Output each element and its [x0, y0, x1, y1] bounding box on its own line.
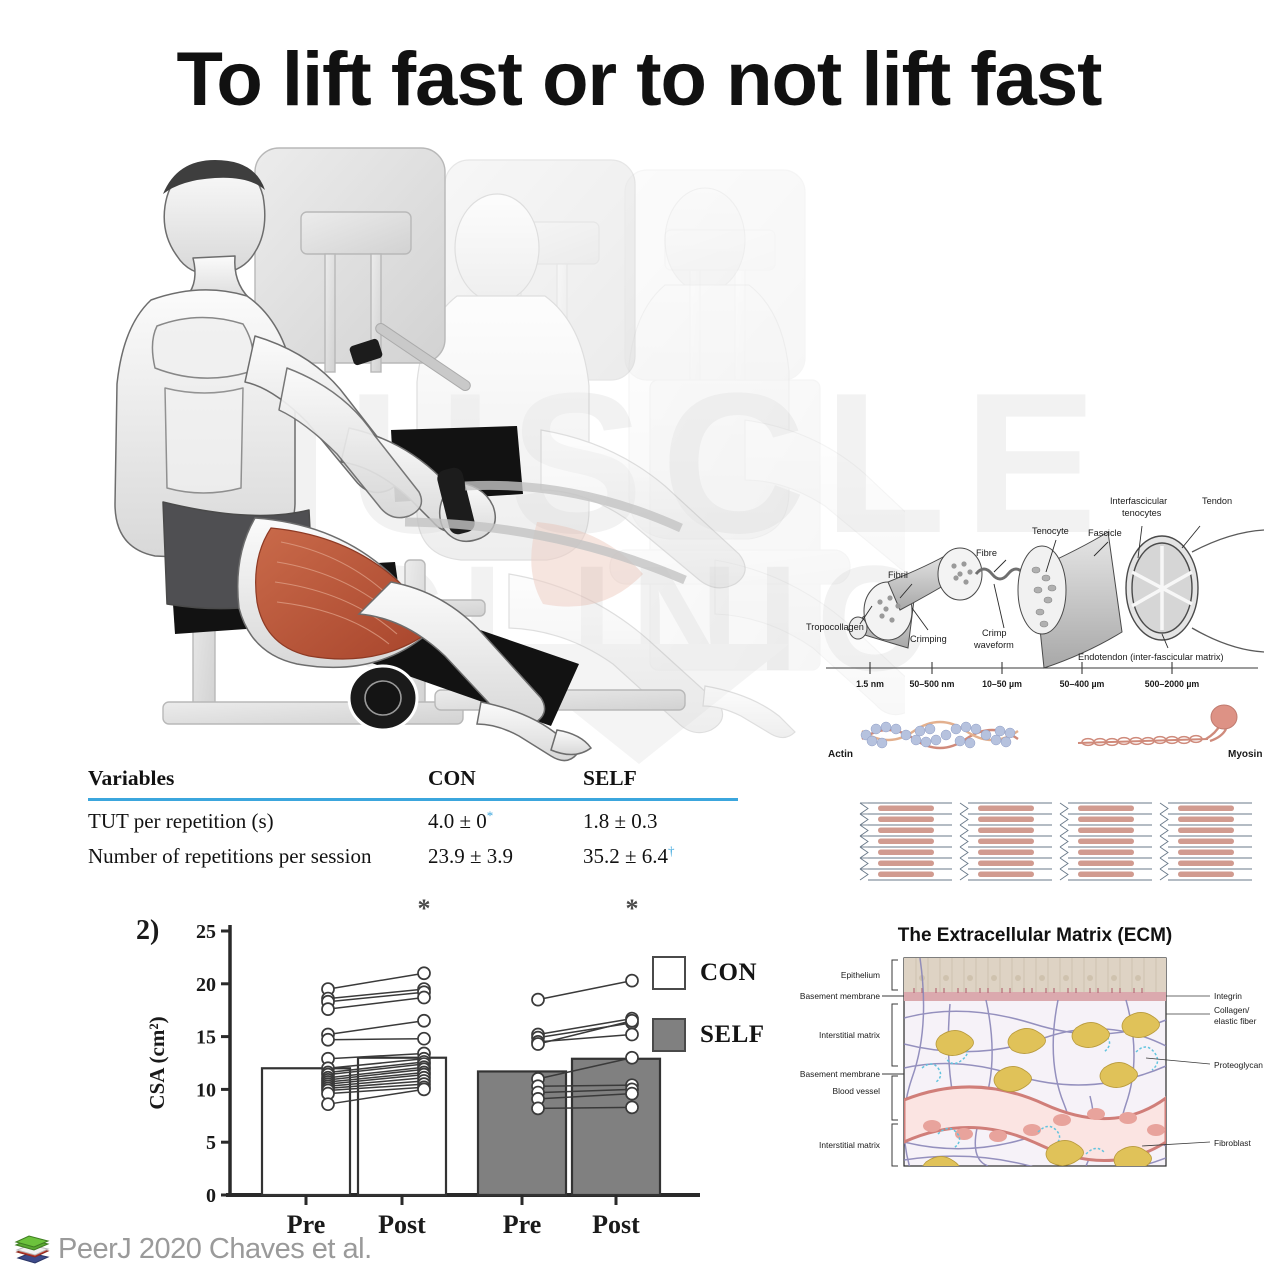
ecm-diagram: Epithelium Basement membrane Interstitia… — [790, 918, 1278, 1183]
tendon-scale-3: 50–400 µm — [1060, 679, 1105, 689]
label-myosin: Myosin — [1228, 749, 1262, 760]
ecm-label-basement-membrane-top: Basement membrane — [800, 991, 880, 1001]
tendon-label-crimp-waveform-2: waveform — [973, 640, 1014, 650]
tendon-label-interfascicular-2: tenocytes — [1122, 508, 1162, 518]
y-axis-tick-label: 25 — [196, 921, 216, 943]
x-axis-tick-label: Post — [592, 1210, 640, 1239]
tendon-scale-1: 50–500 nm — [910, 679, 955, 689]
chart-data-point — [322, 1098, 334, 1110]
table-cell-self: 35.2 ± 6.4† — [583, 836, 738, 871]
chart-data-point — [322, 1003, 334, 1015]
myosin-filament — [1078, 705, 1237, 745]
y-axis-tick-label: 20 — [196, 974, 216, 996]
table-cell-con: 23.9 ± 3.9 — [428, 836, 583, 871]
credit-line: PeerJ 2020 Chaves et al. — [14, 1233, 372, 1266]
tendon-label-fibre: Fibre — [976, 548, 997, 558]
legend-item-con: CON — [652, 956, 765, 990]
ecm-label-blood-vessel: Blood vessel — [833, 1086, 881, 1096]
chart-data-point — [418, 967, 430, 979]
chart-data-point — [418, 1083, 430, 1095]
tendon-label-crimping: Crimping — [910, 634, 947, 644]
table-header-self: SELF — [583, 766, 738, 800]
ecm-label-integrin: Integrin — [1214, 991, 1242, 1001]
chart-data-point — [626, 1015, 638, 1027]
tendon-label-fibril: Fibril — [888, 570, 908, 580]
y-axis-title: CSA (cm²) — [145, 1016, 169, 1109]
ecm-label-proteoglycan: Proteoglycan — [1214, 1060, 1263, 1070]
ecm-label-basement-membrane-bottom: Basement membrane — [800, 1069, 880, 1079]
page-title: To lift fast or to not lift fast — [0, 36, 1278, 123]
books-icon — [14, 1234, 52, 1266]
chart-bar — [478, 1071, 566, 1195]
chart-data-point — [532, 994, 544, 1006]
x-axis-tick-label: Pre — [503, 1210, 542, 1239]
table-cell-variable: Number of repetitions per session — [88, 836, 428, 871]
table-header-variables: Variables — [88, 766, 428, 800]
tendon-label-tropocollagen: Tropocollagen — [806, 622, 864, 632]
chart-panel-label: 2) — [136, 915, 159, 946]
ecm-label-fibroblast: Fibroblast — [1214, 1138, 1251, 1148]
actin-myosin-figure: Actin Myosin — [810, 695, 1270, 775]
results-table: Variables CON SELF TUT per repetition (s… — [88, 766, 738, 871]
tendon-scale-2: 10–50 µm — [982, 679, 1022, 689]
chart-data-point — [626, 1088, 638, 1100]
chart-data-point — [626, 1028, 638, 1040]
table-row: TUT per repetition (s)4.0 ± 0*1.8 ± 0.3 — [88, 800, 738, 837]
y-axis-tick-label: 5 — [206, 1132, 216, 1154]
legend-item-self: SELF — [652, 1018, 765, 1052]
actin-filament — [861, 722, 1018, 748]
chart-legend: CON SELF — [652, 956, 765, 1080]
chart-data-point — [626, 1052, 638, 1064]
legend-label-con: CON — [700, 959, 757, 987]
chart-data-point — [626, 1101, 638, 1113]
tendon-scale-0: 1.5 nm — [856, 679, 884, 689]
ecm-label-interstitial-matrix-top: Interstitial matrix — [819, 1030, 881, 1040]
tendon-label-endotendon: Endotendon (inter-fascicular matrix) — [1078, 652, 1224, 662]
table-header-con: CON — [428, 766, 583, 800]
tendon-label-interfascicular-1: Interfascicular — [1110, 496, 1167, 506]
ecm-label-collagen-2: elastic fiber — [1214, 1016, 1257, 1026]
chart-data-point — [322, 1034, 334, 1046]
significance-marker: * — [626, 895, 639, 923]
exercise-illustration — [105, 130, 905, 770]
chart-data-point — [418, 992, 430, 1004]
y-axis-tick-label: 0 — [206, 1185, 216, 1207]
chart-data-point — [532, 1102, 544, 1114]
table-row: Number of repetitions per session23.9 ± … — [88, 836, 738, 871]
legend-swatch-con — [652, 956, 686, 990]
chart-data-point — [532, 1038, 544, 1050]
y-axis-tick-label: 10 — [196, 1079, 216, 1101]
tendon-hierarchy-figure: Tropocollagen Fibril Crimping Fibre Crim… — [800, 478, 1270, 693]
x-axis-tick-label: Post — [378, 1210, 426, 1239]
legend-swatch-self — [652, 1018, 686, 1052]
y-axis-tick-label: 15 — [196, 1027, 216, 1049]
ecm-label-epithelium: Epithelium — [841, 970, 880, 980]
significance-marker: * — [418, 895, 431, 923]
legend-label-self: SELF — [700, 1021, 765, 1049]
chart-data-point — [418, 1015, 430, 1027]
table-cell-con: 4.0 ± 0* — [428, 800, 583, 837]
table-cell-self: 1.8 ± 0.3 — [583, 800, 738, 837]
chart-data-point — [418, 1033, 430, 1045]
tendon-label-fascicle: Fascicle — [1088, 528, 1122, 538]
label-actin: Actin — [828, 749, 853, 760]
tendon-label-crimp-waveform-1: Crimp — [982, 628, 1007, 638]
chart-bar — [572, 1059, 660, 1195]
ecm-label-collagen-1: Collagen/ — [1214, 1005, 1250, 1015]
tendon-label-tenocyte: Tenocyte — [1032, 526, 1069, 536]
tendon-label-tendon: Tendon — [1202, 496, 1232, 506]
table-cell-variable: TUT per repetition (s) — [88, 800, 428, 837]
ecm-title: The Extracellular Matrix (ECM) — [790, 925, 1278, 947]
tendon-scale-4: 500–2000 µm — [1145, 679, 1200, 689]
ecm-label-interstitial-matrix-bottom: Interstitial matrix — [819, 1140, 881, 1150]
credit-text: PeerJ 2020 Chaves et al. — [58, 1233, 372, 1266]
chart-data-point — [626, 975, 638, 987]
sarcomere-figure — [850, 795, 1270, 885]
